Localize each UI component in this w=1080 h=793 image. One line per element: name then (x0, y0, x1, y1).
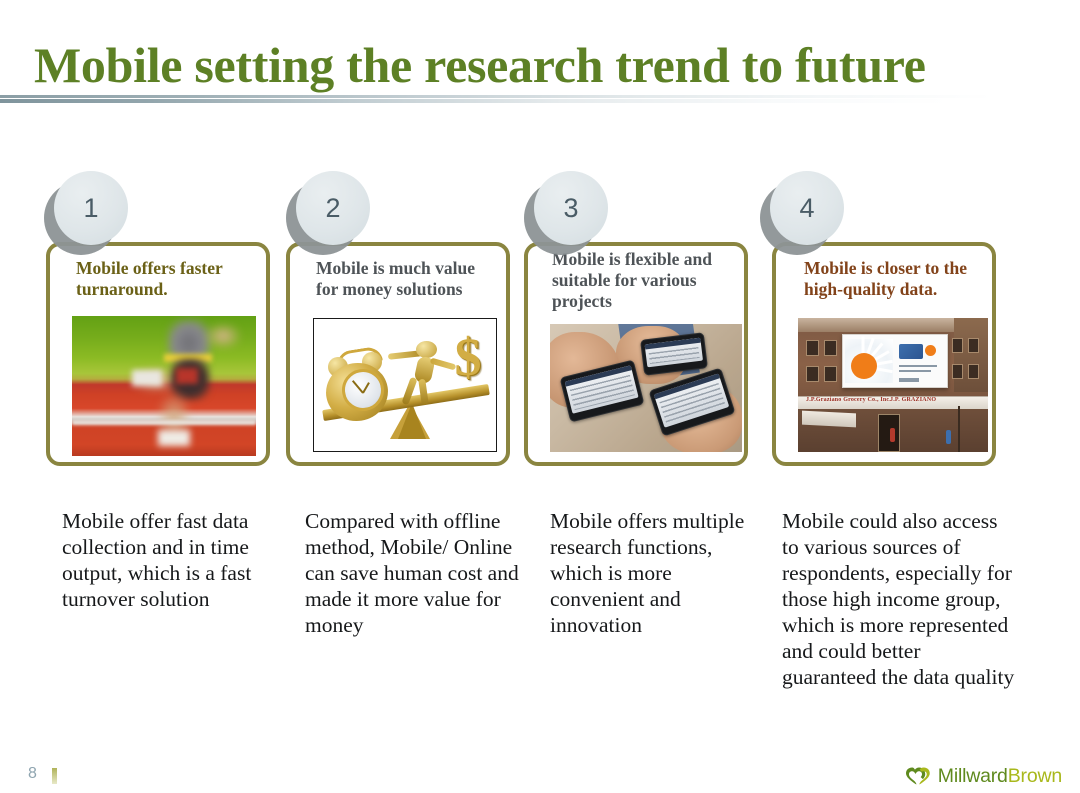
badge-number-label: 3 (534, 171, 608, 245)
orange-sun-icon (851, 353, 877, 379)
millwardbrown-butterfly-icon (905, 766, 931, 786)
runner-on-track-photo (72, 316, 256, 456)
badge-number-label: 1 (54, 171, 128, 245)
storefront-doorway (878, 414, 900, 452)
badge-number-label: 2 (296, 171, 370, 245)
body-text-4: Mobile could also access to various sour… (782, 508, 1018, 690)
storefront-awning (802, 411, 856, 428)
billboard-on-brick-building-photo: J.P.Graziano Grocery Co., Inc. J.P. GRAZ… (798, 318, 988, 452)
logo-word-brown: Brown (1008, 765, 1062, 787)
body-text-1: Mobile offer fast data collection and in… (62, 508, 276, 612)
runner-race-bib (176, 368, 198, 384)
millwardbrown-logo: MillwardBrown (905, 763, 1062, 789)
building-window (952, 338, 963, 353)
step-number-badge-3: 3 (524, 171, 608, 255)
card-2: Mobile is much value for money solutions… (286, 242, 510, 466)
card-4: Mobile is closer to the high-quality dat… (772, 242, 996, 466)
runner-shoe-back (132, 370, 162, 386)
card-3: Mobile is flexible and suitable for vari… (524, 242, 748, 466)
gold-figure-head (416, 341, 437, 358)
smartphone-upper-screen (645, 338, 703, 368)
track-lane-line (72, 420, 256, 425)
card-2-heading: Mobile is much value for money solutions (316, 258, 492, 300)
body-text-3: Mobile offers multiple research function… (550, 508, 766, 638)
title-underline-rule-secondary (0, 99, 1080, 103)
billboard-copy-line (899, 370, 931, 372)
card-3-heading: Mobile is flexible and suitable for vari… (552, 249, 730, 312)
page-number-tick-mark (52, 768, 57, 784)
building-window (968, 364, 979, 379)
title-underline-rule (0, 95, 1080, 98)
presentation-slide: Mobile setting the research trend to fut… (0, 0, 1080, 793)
page-number: 8 (28, 765, 37, 783)
pedestrian-figure (946, 430, 951, 444)
orange-dot-graphic (925, 345, 936, 356)
credit-card-graphic (899, 344, 923, 359)
pedestrian-figure (890, 428, 895, 442)
building-window (824, 366, 837, 382)
step-number-badge-4: 4 (760, 171, 844, 255)
storefront-sign-left-text: J.P.Graziano Grocery Co., Inc. (806, 397, 891, 403)
badge-number-label: 4 (770, 171, 844, 245)
street-pole (958, 406, 960, 452)
building-window (968, 338, 979, 353)
building-window (806, 366, 819, 382)
step-number-badge-2: 2 (286, 171, 370, 255)
runner-arm (206, 324, 240, 348)
billboard-panel (842, 334, 948, 388)
card-1: Mobile offers faster turnaround. (46, 242, 270, 466)
body-text-2: Compared with offline method, Mobile/ On… (305, 508, 525, 638)
card-4-heading: Mobile is closer to the high-quality dat… (804, 258, 978, 300)
page-title: Mobile setting the research trend to fut… (34, 36, 1034, 94)
billboard-copy-line (899, 378, 919, 382)
storefront-sign-right-text: J.P. GRAZIANO (890, 397, 936, 403)
logo-word-millward: Millward (938, 765, 1008, 787)
card-1-heading: Mobile offers faster turnaround. (76, 258, 252, 300)
dollar-sign-icon: $ (450, 333, 486, 381)
runner-shoe-front (158, 430, 190, 446)
logo-wordmark: MillwardBrown (938, 765, 1062, 788)
building-window (806, 340, 819, 356)
building-window (824, 340, 837, 356)
billboard-copy-line (899, 365, 937, 367)
building-window (952, 364, 963, 379)
time-versus-money-seesaw-photo: $ (313, 318, 497, 452)
adjacent-building (954, 318, 988, 392)
hands-holding-smartphones-photo (550, 324, 742, 452)
step-number-badge-1: 1 (44, 171, 128, 255)
